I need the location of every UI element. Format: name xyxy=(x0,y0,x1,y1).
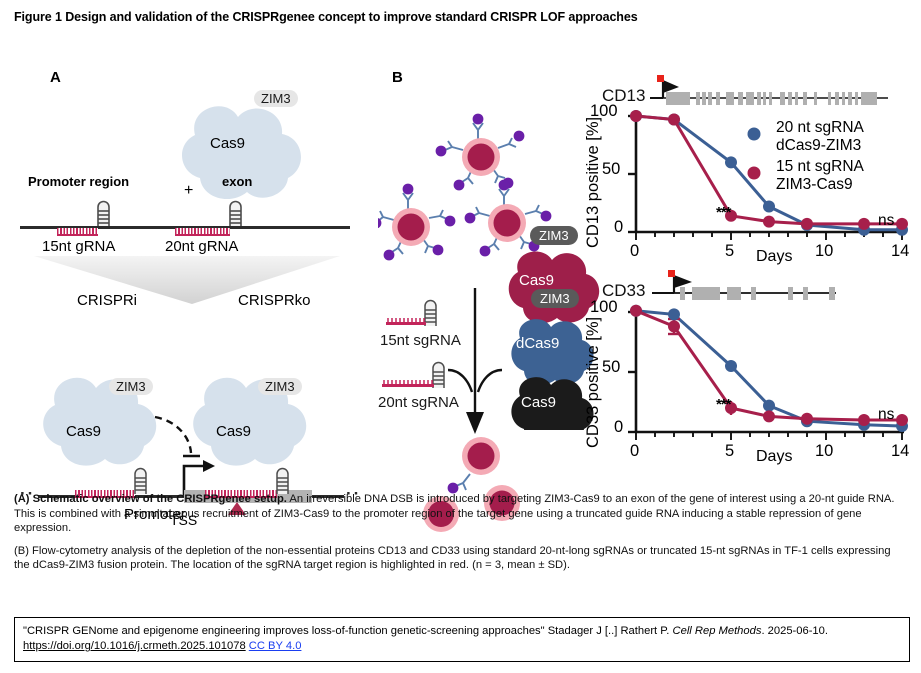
cas9-label-left: Cas9 xyxy=(66,423,101,440)
x-tick-5-cd13: 5 xyxy=(725,242,734,261)
hairpin-icon-left xyxy=(98,202,109,226)
y-axis-title-cd33: CD33 positive [%] xyxy=(584,317,603,448)
x-tick-10-cd33: 10 xyxy=(815,442,833,461)
chart-cd13: CD13 xyxy=(588,72,918,262)
legend-label-crimson-line1: 15 nt sgRNA xyxy=(776,158,864,175)
x-tick-10-cd13: 10 xyxy=(815,242,833,261)
y-axis-title-cd13: CD13 positive [%] xyxy=(584,117,603,248)
citation-authors: Stadager J [..] Rathert P. xyxy=(545,625,670,637)
caption-a-bold: (A) Schematic overview of the CRISPRgene… xyxy=(14,493,287,505)
y-tick-50-cd13: 50 xyxy=(602,160,620,179)
citation-doi-link[interactable]: https://doi.org/10.1016/j.crmeth.2025.10… xyxy=(23,640,246,652)
exon-label: exon xyxy=(222,174,252,189)
citation-title: "CRISPR GENome and epigenome engineering… xyxy=(23,625,545,637)
grna-20-label: 20nt gRNA xyxy=(165,238,238,255)
hairpin-icon-bottom-left xyxy=(135,469,146,495)
sgrna-target-marker-cd33 xyxy=(668,270,675,277)
legend-marker-crimson-cd13 xyxy=(748,167,761,180)
panel-a: A ZIM3 Cas9 Promoter region exon + 15nt … xyxy=(20,60,370,480)
citation-journal: Cell Rep Methods xyxy=(673,625,762,637)
significance-stars-cd33: *** xyxy=(716,396,731,413)
x-tick-5-cd33: 5 xyxy=(725,442,734,461)
x-tick-0-cd13: 0 xyxy=(630,242,639,261)
panel-b-letter: B xyxy=(392,69,403,86)
zim3-pill-top: ZIM3 xyxy=(254,90,298,107)
hairpin-icon-bottom-right xyxy=(277,469,288,495)
plot-area-cd33 xyxy=(588,298,918,463)
ns-label-cd33: ns xyxy=(878,406,894,424)
x-axis-title-cd33: Days xyxy=(756,448,792,466)
chart-cd33: CD33 xyxy=(588,268,918,463)
y-tick-0-cd33: 0 xyxy=(614,418,623,437)
sgrna-target-marker-cd13 xyxy=(657,75,664,82)
citation-date: . 2025-06-10. xyxy=(761,625,828,637)
caption-paragraph-a: (A) Schematic overview of the CRISPRgene… xyxy=(14,492,907,536)
citation-license-link[interactable]: CC BY 4.0 xyxy=(249,640,302,652)
x-axis-title-cd13: Days xyxy=(756,248,792,266)
caption-paragraph-b: (B) Flow-cytometry analysis of the deple… xyxy=(14,544,907,573)
hairpin-icon-right xyxy=(230,202,241,227)
sgrna-20-label: 20nt sgRNA xyxy=(378,394,459,411)
dcas9-label-b: dCas9 xyxy=(516,335,559,352)
grna-15-label: 15nt gRNA xyxy=(42,238,115,255)
zim3-pill-right: ZIM3 xyxy=(258,378,302,395)
legend-label-blue-line1: 20 nt sgRNA xyxy=(776,119,864,136)
cas9-label-top: Cas9 xyxy=(210,135,245,152)
crispri-label: CRISPRi xyxy=(77,292,137,309)
ns-label-cd13: ns xyxy=(878,212,894,230)
x-tick-0-cd33: 0 xyxy=(630,442,639,461)
cas9-label-right: Cas9 xyxy=(216,423,251,440)
sgrna-15-label: 15nt sgRNA xyxy=(380,332,461,349)
tss-arrowhead-cd13 xyxy=(663,80,679,93)
x-tick-14-cd13: 14 xyxy=(891,242,909,261)
plot-area-cd13 xyxy=(588,102,918,262)
y-tick-100-cd33: 100 xyxy=(590,298,618,317)
y-tick-50-cd33: 50 xyxy=(602,358,620,377)
inhibition-arrow xyxy=(155,417,191,453)
figure-caption: (A) Schematic overview of the CRISPRgene… xyxy=(14,492,907,581)
hairpin-icon-sg15 xyxy=(425,301,436,327)
crisprko-label: CRISPRko xyxy=(238,292,311,309)
legend-label-blue-line2: dCas9-ZIM3 xyxy=(776,137,861,154)
cas9-label-b2: Cas9 xyxy=(521,394,556,411)
y-tick-0-cd13: 0 xyxy=(614,218,623,237)
x-tick-14-cd33: 14 xyxy=(891,442,909,461)
significance-stars-cd13: *** xyxy=(716,204,731,221)
y-tick-100-cd13: 100 xyxy=(590,102,618,121)
hairpins-top xyxy=(20,198,370,238)
zim3-pill-left: ZIM3 xyxy=(109,378,153,395)
figure-title: Figure 1 Design and validation of the CR… xyxy=(14,10,638,24)
zim3-pill-b1: ZIM3 xyxy=(530,226,578,245)
citation-box: "CRISPR GENome and epigenome engineering… xyxy=(14,617,910,662)
zim3-pill-b2: ZIM3 xyxy=(531,289,579,308)
legend-marker-blue-cd13 xyxy=(748,128,761,141)
tss-arrowhead-cd33 xyxy=(674,275,692,288)
cas9-label-b1: Cas9 xyxy=(519,272,554,289)
hairpin-icon-sg20 xyxy=(433,363,444,389)
promoter-region-label: Promoter region xyxy=(28,174,129,189)
legend-label-crimson-line2: ZIM3-Cas9 xyxy=(776,176,853,193)
process-arrow xyxy=(20,256,370,316)
panel-b: B xyxy=(378,60,593,490)
